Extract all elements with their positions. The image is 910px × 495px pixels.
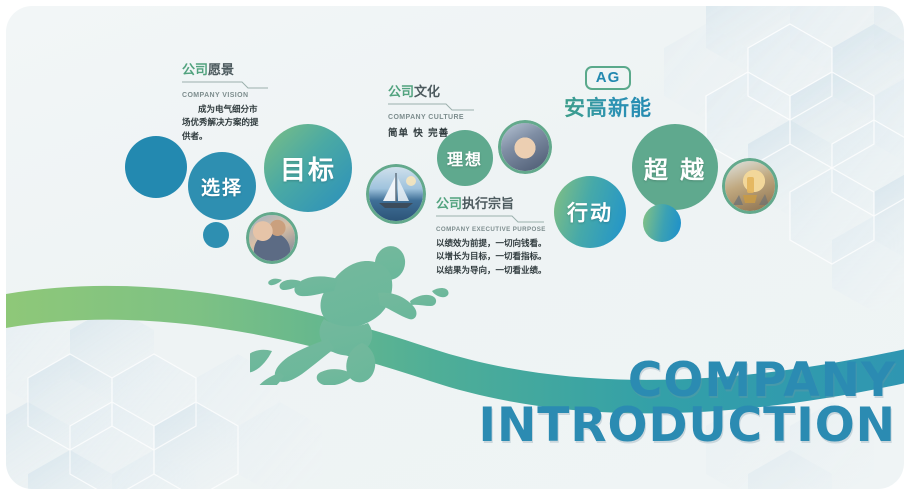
block-culture-title-en: COMPANY CULTURE (388, 114, 488, 121)
block-purpose: 公司执行宗旨 COMPANY EXECUTIVE PURPOSE 以绩效为前提，… (436, 198, 556, 278)
keyword-label-action: 行动 (567, 197, 613, 227)
photo-team (246, 212, 298, 264)
keyword-circle-goal[interactable]: 目标 (264, 124, 352, 212)
logo-name-cn: 安高新能 (560, 92, 656, 122)
photo-team-ring (246, 212, 298, 264)
block-culture-underline (388, 101, 474, 111)
brand-logo: AG 安高新能 (560, 66, 656, 122)
decor-dot-gradient-right (643, 204, 681, 242)
photo-handshake-ring (498, 120, 552, 174)
photo-trophy (722, 158, 778, 214)
block-culture-body-line: 简单 快 完善 (388, 127, 488, 142)
keyword-circle-choose[interactable]: 选择 (188, 152, 256, 220)
block-vision-title-en: COMPANY VISION (182, 92, 272, 99)
block-vision-title-cn2: 愿景 (208, 63, 234, 78)
block-purpose-title: 公司执行宗旨 (436, 198, 556, 212)
photo-handshake (498, 120, 552, 174)
block-vision-title: 公司愿景 (182, 64, 272, 78)
block-purpose-title-cn2: 执行宗旨 (462, 197, 514, 212)
decor-circle-teal-large (125, 136, 187, 198)
decor-dot-teal-small (203, 222, 229, 248)
keyword-label-choose: 选择 (201, 173, 243, 200)
block-purpose-body-line: 以绩效为前提，一切向钱看。 (436, 238, 556, 251)
company-culture-wall: 选择 目标 理想 行动 超 越 (0, 0, 910, 495)
block-purpose-title-cn1: 公司 (436, 197, 462, 212)
block-vision-body-line: 场优秀解决方案的提 (182, 117, 272, 130)
photo-sailboat-ring (366, 164, 426, 224)
block-culture-body: 简单 快 完善 (388, 127, 488, 142)
keyword-label-ideal: 理想 (447, 146, 483, 170)
page-title: COMPANY INTRODUCTION (478, 358, 896, 448)
page-title-line1: COMPANY (478, 358, 896, 403)
block-vision-underline (182, 79, 268, 89)
keyword-label-goal: 目标 (280, 150, 336, 187)
block-vision-body-line: 供者。 (182, 131, 272, 144)
block-purpose-underline (436, 213, 544, 223)
block-culture-title: 公司文化 (388, 86, 488, 100)
logo-mark-ag: AG (585, 66, 632, 90)
keyword-circle-surpass[interactable]: 超 越 (632, 124, 718, 210)
block-vision-body-line: 成为电气细分市 (182, 104, 272, 117)
block-purpose-body-line: 以结果为导向，一切看业绩。 (436, 265, 556, 278)
photo-sailboat (366, 164, 426, 224)
keyword-label-surpass: 超 越 (644, 150, 706, 185)
block-culture-title-cn1: 公司 (388, 85, 414, 100)
block-vision: 公司愿景 COMPANY VISION 成为电气细分市 场优秀解决方案的提 供者… (182, 64, 272, 144)
block-vision-title-cn1: 公司 (182, 63, 208, 78)
block-vision-body: 成为电气细分市 场优秀解决方案的提 供者。 (182, 104, 272, 144)
block-culture-title-cn2: 文化 (414, 85, 440, 100)
block-purpose-body-line: 以增长为目标，一切看指标。 (436, 251, 556, 264)
block-culture: 公司文化 COMPANY CULTURE 简单 快 完善 (388, 86, 488, 142)
page-title-line2: INTRODUCTION (478, 403, 896, 448)
keyword-circle-action[interactable]: 行动 (554, 176, 626, 248)
photo-trophy-ring (722, 158, 778, 214)
block-purpose-title-en: COMPANY EXECUTIVE PURPOSE (436, 226, 556, 233)
block-purpose-body: 以绩效为前提，一切向钱看。 以增长为目标，一切看指标。 以结果为导向，一切看业绩… (436, 238, 556, 278)
